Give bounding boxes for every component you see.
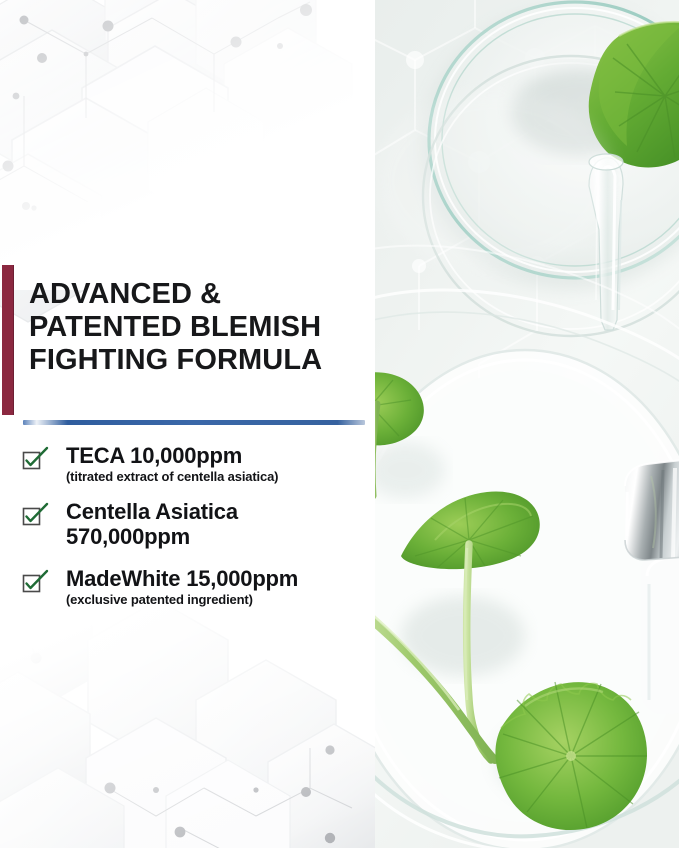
ingredient-list: TECA 10,000ppm (titrated extract of cent… — [23, 443, 368, 608]
checked-checkbox-icon — [23, 506, 41, 524]
ingredient-name: Centella Asiatica 570,000ppm — [66, 499, 238, 549]
product-photo — [375, 0, 679, 848]
ingredient-description: (titrated extract of centella asiatica) — [66, 469, 368, 485]
checked-checkbox-icon — [23, 450, 41, 468]
list-item: Centella Asiatica 570,000ppm — [23, 499, 368, 550]
list-item: TECA 10,000ppm (titrated extract of cent… — [23, 443, 368, 485]
maroon-accent-bar — [2, 265, 14, 415]
page-title: ADVANCED & PATENTED BLEMISH FIGHTING FOR… — [29, 278, 369, 377]
list-item: MadeWhite 15,000ppm (exclusive patented … — [23, 566, 368, 608]
product-feature-poster: ADVANCED & PATENTED BLEMISH FIGHTING FOR… — [0, 0, 679, 848]
ingredient-name: TECA 10,000ppm — [66, 443, 242, 468]
section-divider — [23, 420, 365, 425]
ingredient-name: MadeWhite 15,000ppm — [66, 566, 298, 591]
left-content-panel: ADVANCED & PATENTED BLEMISH FIGHTING FOR… — [0, 0, 375, 848]
checked-checkbox-icon — [23, 573, 41, 591]
ingredient-description: (exclusive patented ingredient) — [66, 592, 368, 608]
